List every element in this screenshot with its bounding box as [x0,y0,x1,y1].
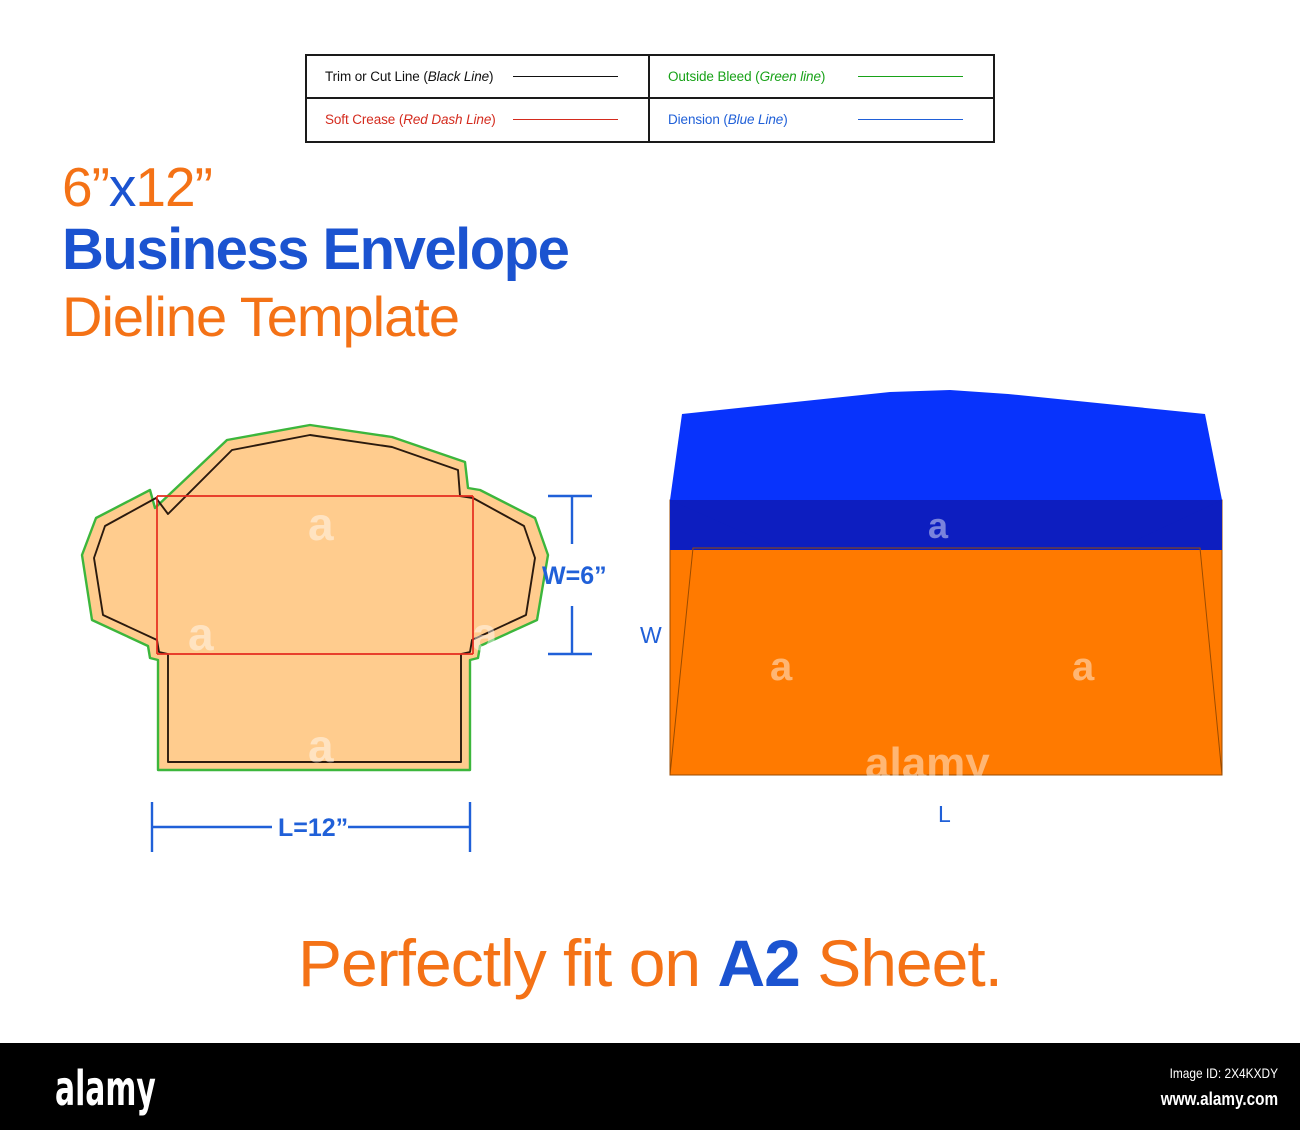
slogan-part-2: Sheet. [800,926,1002,1000]
legend-row-outside-bleed: Outside Bleed (Green line) [650,56,993,99]
dimension-width: W=6” [542,496,607,654]
page-title: 6”x12” Business Envelope Dieline Templat… [62,158,702,350]
legend-sample-trim-cut [513,76,618,77]
legend-row-trim-cut: Trim or Cut Line (Black Line) [307,56,650,99]
watermark-glyph: a [928,505,949,546]
dieline-flat-diagram: a a a a W=6” L=12” [80,410,640,870]
watermark-glyph: a [308,720,334,772]
dimension-length: L=12” [152,802,470,852]
title-size-x: x [109,156,136,218]
envelope-flap [670,390,1222,500]
legend-sample-soft-crease [513,119,618,120]
title-size-left: 6” [62,156,109,218]
legend-label-outside-bleed: Outside Bleed (Green line) [668,69,825,84]
legend-row-dimension: Diension (Blue Line) [650,99,993,142]
watermark-word: alamy [865,739,990,788]
title-template-line: Dieline Template [62,284,702,350]
legend-label-dimension: Diension (Blue Line) [668,112,788,127]
envelope-width-label: W [640,622,662,648]
slogan-highlight: A2 [717,926,799,1000]
legend-sample-outside-bleed [858,76,963,77]
slogan-part-1: Perfectly fit on [298,926,718,1000]
legend-sample-dimension [858,119,963,120]
alamy-url: www.alamy.com [1161,1089,1278,1110]
alamy-image-id: Image ID: 2X4KXDY [1161,1065,1278,1081]
watermark-glyph: a [1072,645,1095,689]
dimension-length-label: L=12” [278,814,348,842]
watermark-glyph: a [308,498,334,550]
envelope-length-label: L [938,801,951,827]
legend-label-trim-cut: Trim or Cut Line (Black Line) [325,69,493,84]
alamy-logo: alamy [55,1061,156,1117]
legend-table: Trim or Cut Line (Black Line) Outside Bl… [305,54,995,143]
watermark-glyph: a [188,608,214,660]
alamy-meta: Image ID: 2X4KXDY www.alamy.com [1140,1065,1278,1110]
title-size-right: 12” [135,156,212,218]
envelope-width-label-wrap: W [640,622,662,649]
title-size-line: 6”x12” [62,158,702,216]
dimension-width-label: W=6” [542,562,607,590]
envelope-3d-diagram: a a a alamy L [660,390,1260,830]
slogan: Perfectly fit on A2 Sheet. [0,925,1300,1001]
alamy-watermark-bar: alamy Image ID: 2X4KXDY www.alamy.com [0,1043,1300,1130]
watermark-glyph: a [770,645,793,689]
legend-row-soft-crease: Soft Crease (Red Dash Line) [307,99,650,142]
watermark-glyph: a [472,608,498,660]
bleed-outline-path [82,425,548,770]
title-product-line: Business Envelope [62,216,702,284]
legend-label-soft-crease: Soft Crease (Red Dash Line) [325,112,496,127]
